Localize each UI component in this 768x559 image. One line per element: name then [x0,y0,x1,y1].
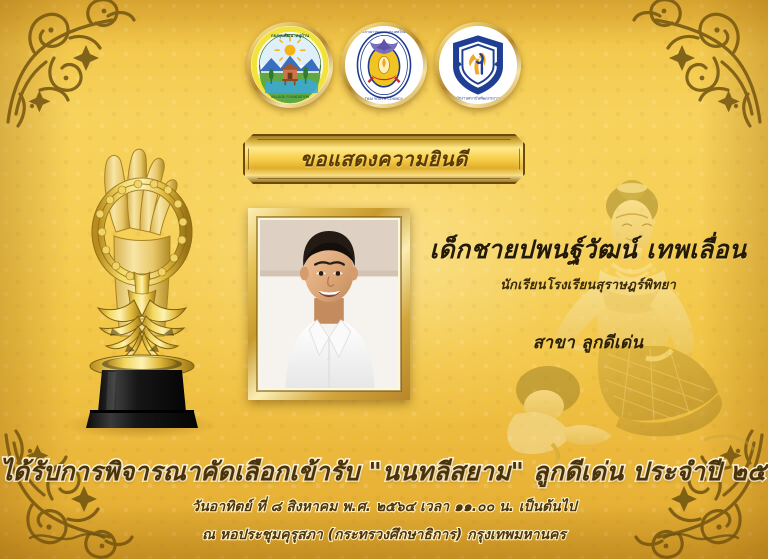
event-date-line: วันอาทิตย์ ที่ ๘ สิงหาคม พ.ศ. ๒๕๖๔ เวลา … [0,496,768,518]
svg-text:กองทุนพัฒนาหมู่บ้าน: กองทุนพัฒนาหมู่บ้าน [271,32,309,39]
logo-blue-shield-institute: สำนักงานสถาบันพัฒนาเยาวชน [435,22,521,108]
recipient-portrait [260,220,398,388]
svg-text:สภาเยาวชนแห่งประเทศไทย: สภาเยาวชนแห่งประเทศไทย [362,29,405,34]
award-branch: สาขา ลูกดีเด่น [420,329,756,356]
congratulations-poster: กองทุนพัฒนาหมู่บ้าน VILLAGE FOUNDATION [0,0,768,559]
award-trophy [42,140,237,440]
logo-foundation-village-development: กองทุนพัฒนาหมู่บ้าน VILLAGE FOUNDATION [247,22,333,108]
svg-text:VILLAGE FOUNDATION: VILLAGE FOUNDATION [271,95,310,99]
plaque-label: ขอแสดงความยินดี [300,143,467,175]
logo-row: กองทุนพัฒนาหมู่บ้าน VILLAGE FOUNDATION [0,22,768,108]
svg-text:สำนักงานสถาบันพัฒนาเยาวชน: สำนักงานสถาบันพัฒนาเยาวชน [452,95,505,100]
recipient-block: เด็กชายปพนฐ์วัฒน์ เทพเลื่อน นักเรียนโรงเ… [420,236,756,356]
photo-bevel [257,217,401,391]
logo-thai-youth-council: สภาเยาวชนแห่งประเทศไทย THAI YOUTH COUNCI… [341,22,427,108]
award-headline: ได้รับการพิจารณาคัดเลือกเข้ารับ "นนทลีสย… [0,452,768,492]
recipient-school: นักเรียนโรงเรียนสุราษฎร์พิทยา [420,274,756,295]
recipient-name: เด็กชายปพนฐ์วัฒน์ เทพเลื่อน [420,236,756,265]
recipient-photo-frame [248,208,410,400]
congratulations-plaque: ขอแสดงความยินดี [243,134,525,184]
svg-text:THAI YOUTH COUNCIL: THAI YOUTH COUNCIL [363,97,403,101]
event-venue-line: ณ หอประชุมคุรุสภา (กระทรวงศึกษาธิการ) กร… [0,524,768,546]
